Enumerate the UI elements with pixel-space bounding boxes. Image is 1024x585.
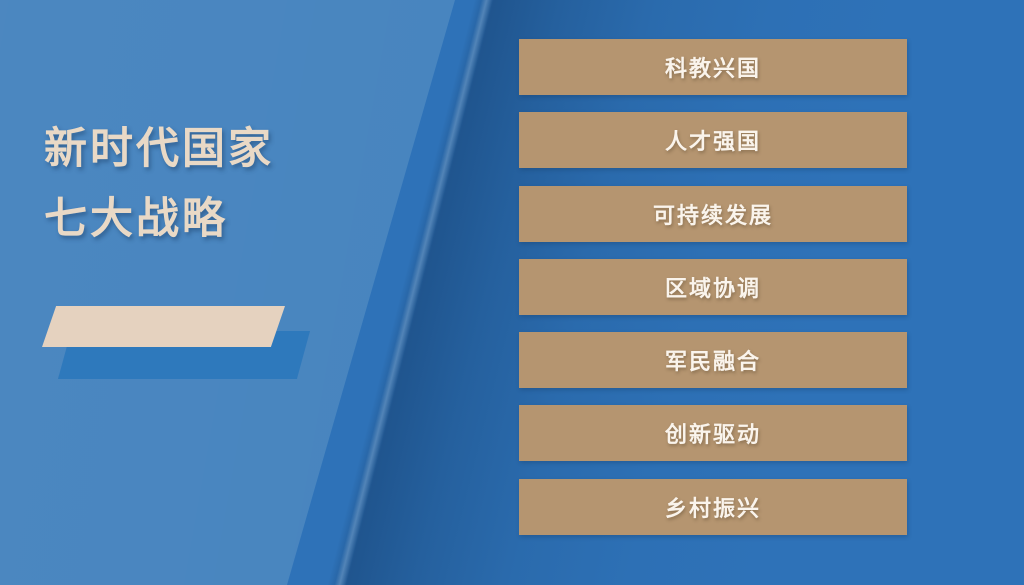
decorative-cream-parallelogram — [42, 306, 285, 347]
strategy-bar-label: 军民融合 — [665, 344, 761, 376]
strategy-bar[interactable]: 乡村振兴 — [519, 479, 907, 535]
slide-canvas: 新时代国家 七大战略 科教兴国人才强国可持续发展区域协调军民融合创新驱动乡村振兴 — [0, 0, 1024, 585]
strategy-bar-label: 乡村振兴 — [665, 491, 761, 523]
strategy-bar-label: 可持续发展 — [653, 198, 773, 230]
page-title: 新时代国家 七大战略 — [44, 114, 374, 254]
strategy-bar-label: 科教兴国 — [665, 51, 761, 83]
strategy-bar[interactable]: 科教兴国 — [519, 39, 907, 95]
strategy-bar[interactable]: 区域协调 — [519, 259, 907, 315]
strategy-bar[interactable]: 可持续发展 — [519, 186, 907, 242]
strategy-bar-label: 创新驱动 — [665, 417, 761, 449]
strategy-bar-label: 人才强国 — [665, 124, 761, 156]
strategy-bar[interactable]: 军民融合 — [519, 332, 907, 388]
strategy-bar[interactable]: 人才强国 — [519, 112, 907, 168]
title-line-1: 新时代国家 — [44, 114, 374, 184]
strategy-bar[interactable]: 创新驱动 — [519, 405, 907, 461]
title-line-2: 七大战略 — [44, 184, 374, 254]
strategy-list: 科教兴国人才强国可持续发展区域协调军民融合创新驱动乡村振兴 — [519, 39, 907, 535]
strategy-bar-label: 区域协调 — [665, 271, 761, 303]
